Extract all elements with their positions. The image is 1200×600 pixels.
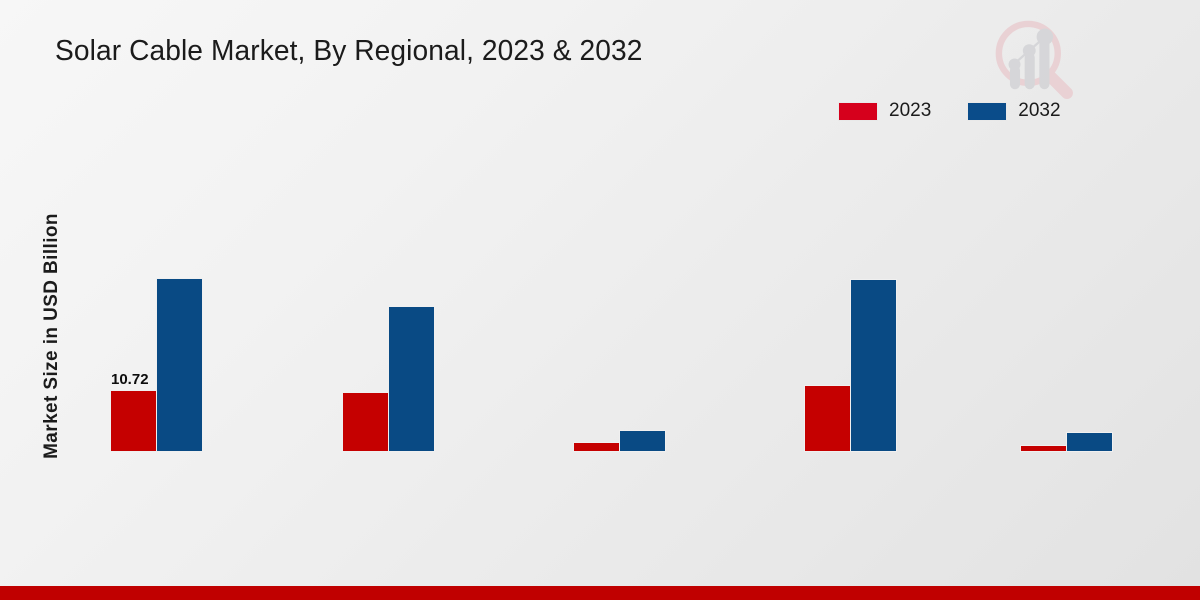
bar-2023-south-america[interactable] [573,442,620,452]
bottom-accent-strip [0,586,1200,600]
bar-2023-north-america[interactable]: 10.72 [110,390,157,452]
legend-item-2023[interactable]: 2023 [838,100,931,122]
plot-area: 10.72 NORTH AMERICA EUROPE SOUTH AMERICA [0,160,1200,452]
legend-label-2032: 2032 [1018,100,1060,122]
chart-legend: 2023 2032 [838,100,1061,122]
market-research-logo-watermark [986,12,1078,104]
legend-item-2032[interactable]: 2032 [967,100,1060,122]
bar-2032-north-america[interactable] [156,278,203,452]
bar-value-label-north-america-2023: 10.72 [111,371,149,388]
bar-2032-middle-east-and-africa[interactable] [1066,432,1113,452]
bar-2023-europe[interactable] [342,392,389,452]
bar-2032-europe[interactable] [388,306,435,452]
legend-swatch-2032 [967,102,1007,121]
chart-canvas: Solar Cable Market, By Regional, 2023 & … [0,0,1200,600]
legend-label-2023: 2023 [889,100,931,122]
page-title: Solar Cable Market, By Regional, 2023 & … [55,35,643,68]
bar-2032-south-america[interactable] [619,430,666,452]
legend-swatch-2023 [838,102,878,121]
bar-2023-asia-pacific[interactable] [804,385,851,452]
bar-2023-middle-east-and-africa[interactable] [1020,445,1067,452]
bar-2032-asia-pacific[interactable] [850,279,897,452]
